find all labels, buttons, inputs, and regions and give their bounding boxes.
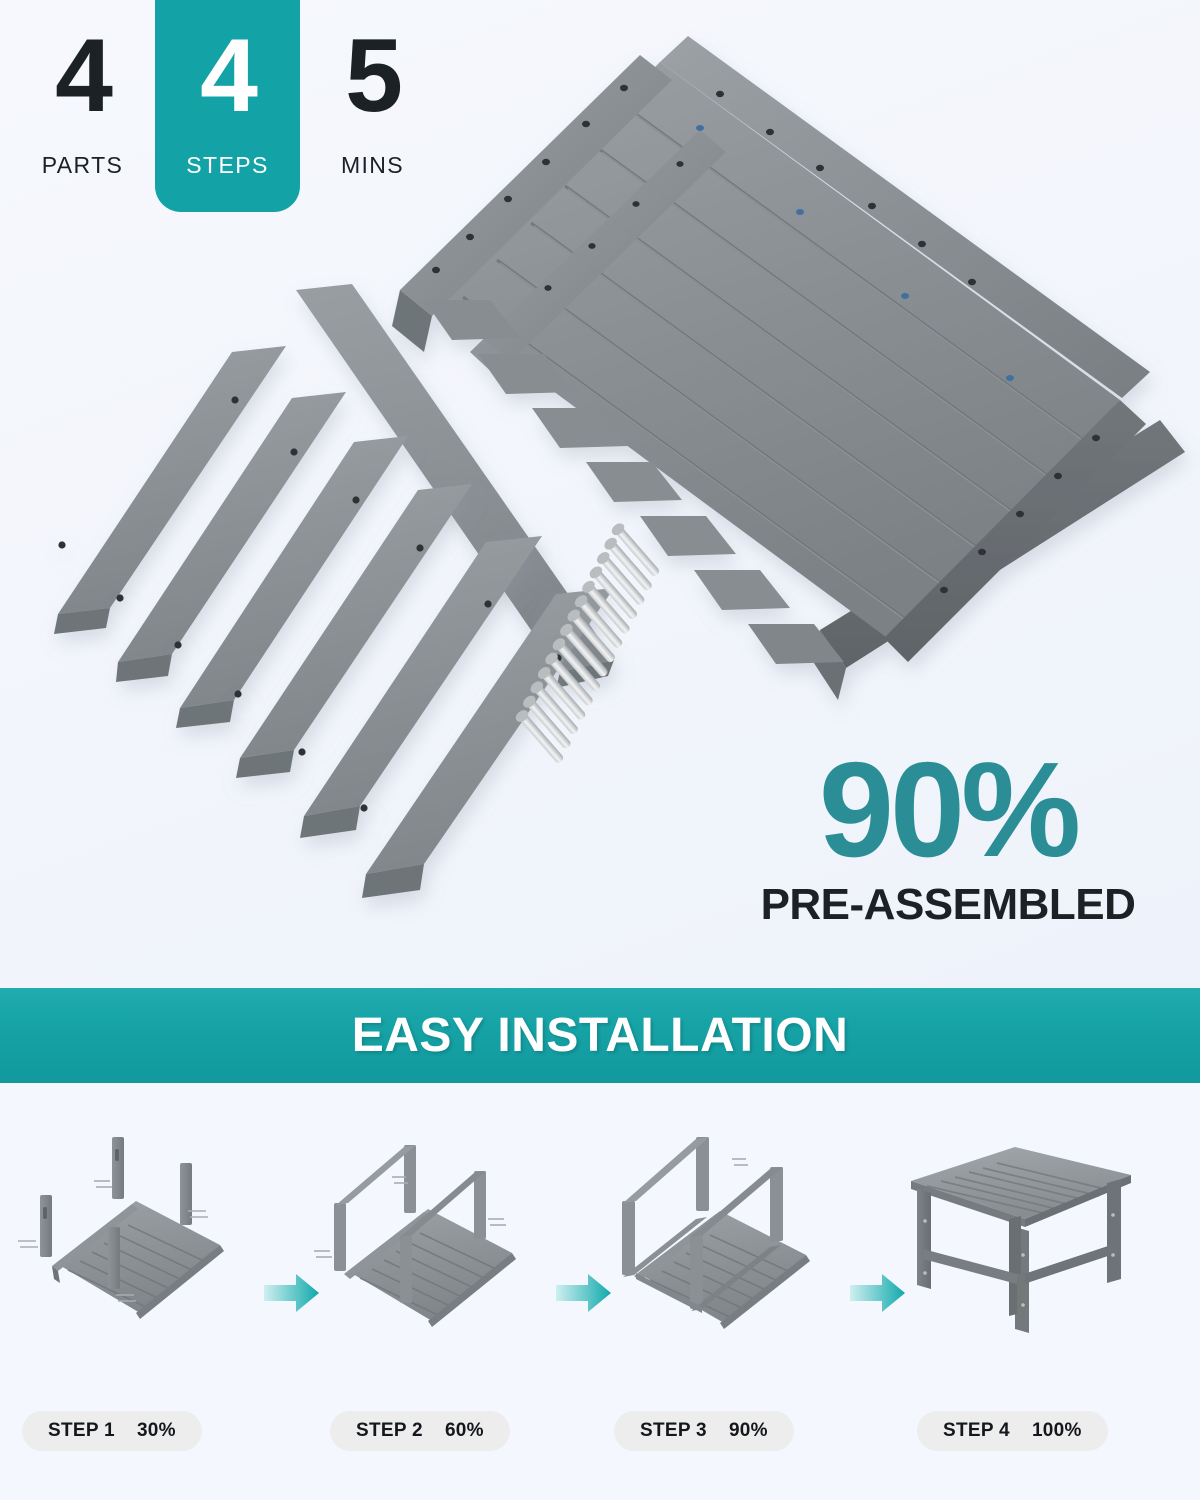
pre-assembled-percent: 90% (728, 748, 1168, 872)
easy-installation-banner: EASY INSTALLATION (0, 988, 1200, 1083)
stat-steps-label: STEPS (186, 152, 268, 179)
step-1-percent: 30% (137, 1420, 176, 1442)
stat-parts-number: 4 (55, 24, 110, 128)
step-4-name: STEP 4 (943, 1420, 1010, 1442)
step-4-badge: STEP 4 100% (917, 1411, 1108, 1451)
step-2-badge: STEP 2 60% (330, 1411, 510, 1451)
stat-mins-label: MINS (341, 152, 404, 179)
stats-strip: 4 PARTS 4 STEPS 5 MINS (0, 0, 450, 212)
stat-steps-number: 4 (200, 24, 255, 128)
pre-assembled-block: 90% PRE-ASSEMBLED (728, 748, 1168, 930)
step-4-illustration (893, 1123, 1151, 1353)
step-3-illustration (594, 1123, 852, 1353)
step-3-badge: STEP 3 90% (614, 1411, 794, 1451)
installation-step-2: STEP 2 60% (300, 1123, 590, 1423)
step-2-illustration (300, 1123, 558, 1353)
step-3-name: STEP 3 (640, 1420, 707, 1442)
step-1-badge: STEP 1 30% (22, 1411, 202, 1451)
step-1-name: STEP 1 (48, 1420, 115, 1442)
stat-steps: 4 STEPS (155, 0, 300, 212)
step-3-percent: 90% (729, 1420, 768, 1442)
stat-parts-label: PARTS (42, 152, 124, 179)
pre-assembled-label: PRE-ASSEMBLED (728, 880, 1168, 930)
stat-mins: 5 MINS (300, 0, 445, 212)
installation-step-4: STEP 4 100% (893, 1123, 1183, 1423)
stat-parts: 4 PARTS (10, 0, 155, 212)
step-2-name: STEP 2 (356, 1420, 423, 1442)
installation-step-1: STEP 1 30% (8, 1123, 298, 1423)
installation-step-3: STEP 3 90% (594, 1123, 884, 1423)
step-1-illustration (8, 1123, 266, 1353)
installation-steps-section: STEP 1 30% (0, 1083, 1200, 1500)
step-4-percent: 100% (1032, 1420, 1082, 1442)
stat-mins-number: 5 (345, 24, 400, 128)
banner-title: EASY INSTALLATION (352, 1008, 849, 1063)
hero-section: 4 PARTS 4 STEPS 5 MINS 90% PRE-ASSEMBLED (0, 0, 1200, 988)
step-2-percent: 60% (445, 1420, 484, 1442)
